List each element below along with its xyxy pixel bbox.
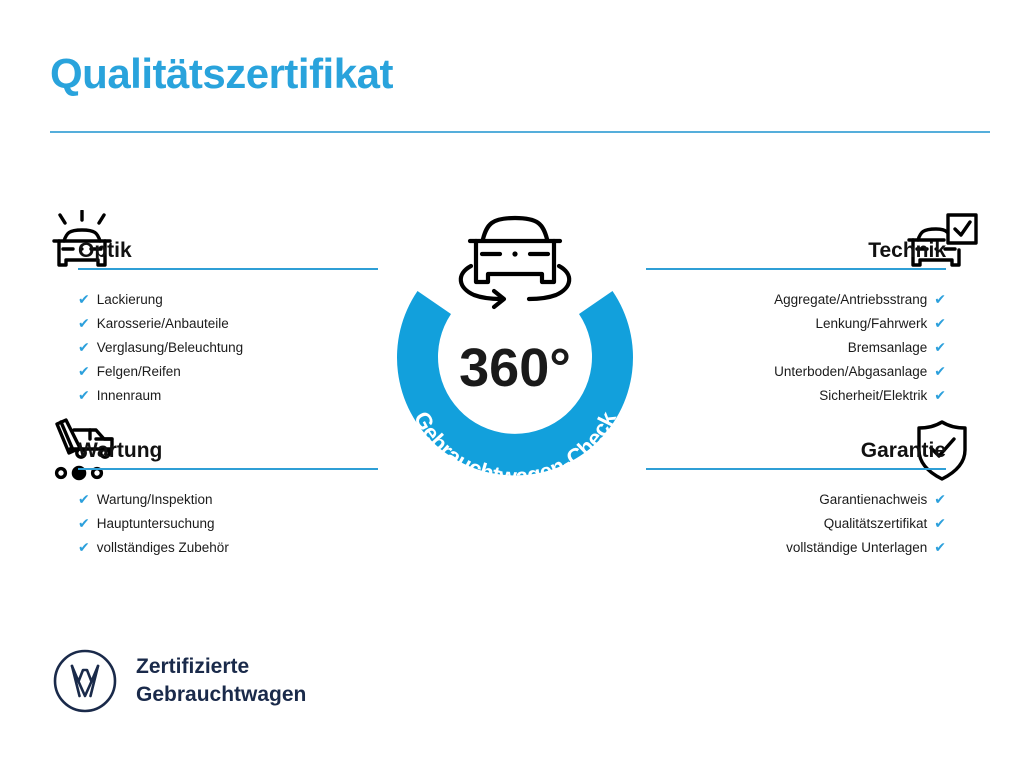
section-divider: [78, 268, 378, 270]
section-technik: Technik Aggregate/Antriebsstrang ✔ Lenku…: [646, 237, 946, 408]
check-icon: ✔: [934, 492, 946, 506]
section-title: Wartung: [78, 437, 378, 465]
list-item-label: Hauptuntersuchung: [97, 512, 215, 536]
list-item-label: Karosserie/Anbauteile: [97, 312, 229, 336]
brand-text: Zertifizierte Gebrauchtwagen: [136, 653, 306, 709]
check-icon: ✔: [934, 292, 946, 306]
section-divider: [78, 468, 378, 470]
list-item-label: vollständige Unterlagen: [786, 536, 927, 560]
list-item: ✔ Felgen/Reifen: [78, 360, 378, 384]
list-item-label: Aggregate/Antriebsstrang: [774, 288, 927, 312]
section-header: Garantie: [646, 437, 946, 475]
list-item: Garantienachweis ✔: [646, 488, 946, 512]
list-item: Unterboden/Abgasanlage ✔: [646, 360, 946, 384]
list-item: Bremsanlage ✔: [646, 336, 946, 360]
list-item-label: Sicherheit/Elektrik: [819, 384, 927, 408]
list-item-label: Innenraum: [97, 384, 162, 408]
section-header: Optik: [78, 237, 378, 275]
check-icon: ✔: [934, 316, 946, 330]
section-title: Garantie: [646, 437, 946, 465]
header-divider: [50, 131, 990, 133]
list-item-label: Unterboden/Abgasanlage: [774, 360, 927, 384]
list-item: ✔ Lackierung: [78, 288, 378, 312]
section-divider: [646, 468, 946, 470]
vw-logo: [52, 648, 118, 714]
list-item: Aggregate/Antriebsstrang ✔: [646, 288, 946, 312]
section-header: Technik: [646, 237, 946, 275]
list-item: Lenkung/Fahrwerk ✔: [646, 312, 946, 336]
car-rotate-360-icon: [461, 218, 569, 307]
page-title: Qualitätszertifikat: [50, 53, 393, 95]
brand-line-2: Gebrauchtwagen: [136, 681, 306, 709]
360-gebrauchtwagen-check-badge: 360° Gebrauchtwagen-Check: [370, 196, 660, 491]
check-icon: ✔: [78, 316, 90, 330]
list-item-label: Wartung/Inspektion: [97, 488, 213, 512]
check-icon: ✔: [934, 540, 946, 554]
check-icon: ✔: [78, 492, 90, 506]
list-item: ✔ Karosserie/Anbauteile: [78, 312, 378, 336]
check-icon: ✔: [934, 388, 946, 402]
check-icon: ✔: [934, 364, 946, 378]
check-icon: ✔: [934, 340, 946, 354]
list-item-label: Felgen/Reifen: [97, 360, 181, 384]
section-title: Optik: [78, 237, 378, 265]
list-item-label: Verglasung/Beleuchtung: [97, 336, 243, 360]
check-icon: ✔: [78, 540, 90, 554]
list-item: ✔ Verglasung/Beleuchtung: [78, 336, 378, 360]
list-item-label: Garantienachweis: [819, 488, 927, 512]
list-item-label: Bremsanlage: [848, 336, 928, 360]
section-garantie: Garantie Garantienachweis ✔ Qualitätszer…: [646, 437, 946, 560]
vw-brand-block: Zertifizierte Gebrauchtwagen: [52, 648, 306, 714]
checklist-garantie: Garantienachweis ✔ Qualitätszertifikat ✔…: [646, 488, 946, 560]
list-item-label: Lackierung: [97, 288, 163, 312]
list-item: vollständige Unterlagen ✔: [646, 536, 946, 560]
list-item-label: Lenkung/Fahrwerk: [815, 312, 927, 336]
section-optik: Optik ✔ Lackierung ✔ Karosserie/Anbautei…: [78, 237, 378, 408]
section-wartung: Wartung ✔ Wartung/Inspektion ✔ Hauptunte…: [78, 437, 378, 560]
section-divider: [646, 268, 946, 270]
check-icon: ✔: [934, 516, 946, 530]
list-item-label: vollständiges Zubehör: [97, 536, 229, 560]
certificate-page: Qualitätszertifikat Optik: [0, 0, 1024, 768]
check-icon: ✔: [78, 364, 90, 378]
checklist-optik: ✔ Lackierung ✔ Karosserie/Anbauteile ✔ V…: [78, 288, 378, 408]
list-item: ✔ Hauptuntersuchung: [78, 512, 378, 536]
list-item: Qualitätszertifikat ✔: [646, 512, 946, 536]
check-icon: ✔: [78, 292, 90, 306]
list-item-label: Qualitätszertifikat: [824, 512, 928, 536]
list-item: Sicherheit/Elektrik ✔: [646, 384, 946, 408]
list-item: ✔ Innenraum: [78, 384, 378, 408]
checklist-technik: Aggregate/Antriebsstrang ✔ Lenkung/Fahrw…: [646, 288, 946, 408]
checklist-wartung: ✔ Wartung/Inspektion ✔ Hauptuntersuchung…: [78, 488, 378, 560]
check-icon: ✔: [78, 340, 90, 354]
check-icon: ✔: [78, 388, 90, 402]
badge-center-label: 360°: [459, 338, 571, 398]
section-header: Wartung: [78, 437, 378, 475]
brand-line-1: Zertifizierte: [136, 653, 306, 681]
section-title: Technik: [646, 237, 946, 265]
list-item: ✔ vollständiges Zubehör: [78, 536, 378, 560]
list-item: ✔ Wartung/Inspektion: [78, 488, 378, 512]
check-icon: ✔: [78, 516, 90, 530]
